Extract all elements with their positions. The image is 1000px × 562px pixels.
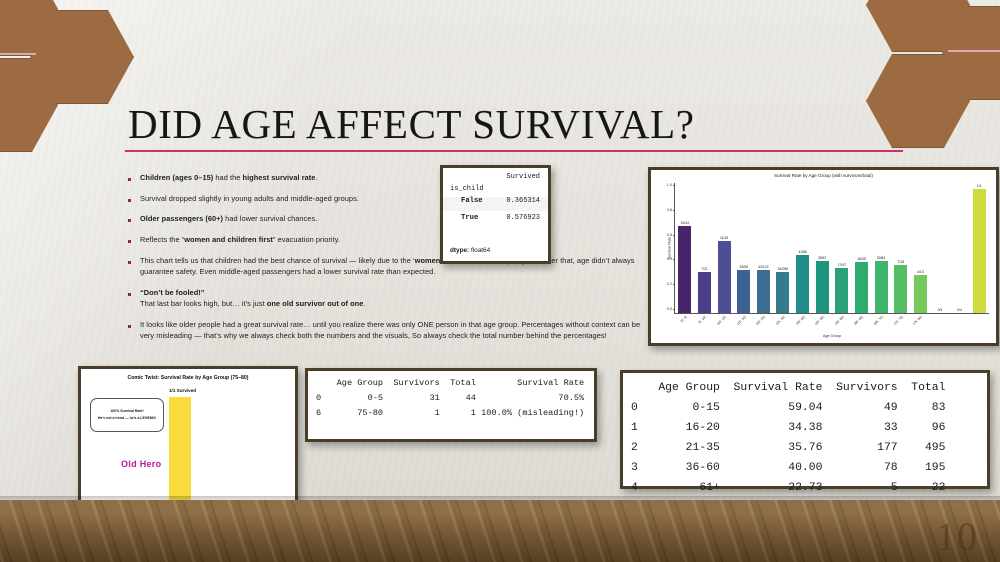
page-number: 10 <box>936 513 978 560</box>
chart-bar-value-label: 31/44 <box>681 221 690 225</box>
table-cell: Survivors <box>822 378 897 398</box>
table-row: 0 0-15 59.04 49 83 <box>631 398 977 418</box>
chart-x-tick: (30, 40] <box>795 315 806 326</box>
chart-bar: 17/47 <box>835 268 848 313</box>
table-cell: 21-35 <box>645 438 720 458</box>
bullet-text: Children (ages 0–15) had the highest sur… <box>140 172 318 183</box>
chart-x-tick: (5, 10] <box>698 315 707 324</box>
table-cell: 100.0% (misleading!) <box>476 406 584 421</box>
table-cell: 96 <box>898 418 946 438</box>
table-cell: 59.04 <box>720 398 823 418</box>
chart-y-tick: 1.0 <box>667 183 672 187</box>
chart-x-tick: (0, 5] <box>679 315 687 323</box>
title-underline <box>125 150 903 152</box>
table-header-row: Age Group Survival Rate Survivors Total <box>631 378 977 398</box>
bullet-marker-icon <box>128 325 131 328</box>
series-dtype-value: float64 <box>471 247 490 254</box>
chart-bar-slot: 16/39(60, 65] <box>852 183 872 313</box>
chart-bar: 16/39 <box>855 262 868 313</box>
chart-y-tick: 0.6 <box>667 233 672 237</box>
hexagon-accent-line-left <box>0 53 36 55</box>
survival-rate-chart-panel: Survival Rate by Age Group (with survivo… <box>648 167 999 346</box>
series-row-value: 0.365314 <box>506 197 540 205</box>
wooden-floor <box>0 500 1000 562</box>
chart-bar-slot: 7/18(70, 75] <box>891 183 911 313</box>
chart-bar-slot: 28/67(40, 50] <box>812 183 832 313</box>
chart-bar: 4/13 <box>914 275 927 313</box>
chart-bar-slot: 11/19(10, 15] <box>714 183 734 313</box>
chart-bar-value-label: 16/39 <box>857 257 866 261</box>
chart-bar: 41/88 <box>796 255 809 313</box>
table-row: 2 21-35 35.76 177 495 <box>631 438 977 458</box>
table-cell: Survival Rate <box>720 378 823 398</box>
small-table: Age Group Survivors Total Survival Rate0… <box>308 371 594 439</box>
chart-bar-slot: 17/47(50, 60] <box>832 183 852 313</box>
table-cell: 78 <box>822 458 897 478</box>
comic-bar <box>169 397 191 507</box>
chart-title: Survival Rate by Age Group (with survivo… <box>651 173 996 178</box>
chart-bar-slot: 0/3 <box>930 183 950 313</box>
chart-bar-slot: 33/96(15, 20] <box>734 183 754 313</box>
table-row: False 0.365314 <box>443 197 548 211</box>
table-cell: 1 <box>440 406 476 421</box>
chart-bar-slot: 4/13(75, 80] <box>911 183 931 313</box>
table-row: 3 36-60 40.00 78 195 <box>631 458 977 478</box>
series-index-name: is_child <box>450 185 484 193</box>
table-cell: 75-80 <box>326 406 383 421</box>
table-cell: 70.5% <box>476 391 584 406</box>
chart-x-axis-label: Age Group <box>675 334 989 338</box>
chart-bar-slot: 41/88(30, 40] <box>793 183 813 313</box>
bullet-marker-icon <box>128 199 131 202</box>
hexagon-accent-line-right <box>948 50 1000 52</box>
bullet-text: Survival dropped slightly in young adult… <box>140 193 359 204</box>
table-cell: Survival Rate <box>476 376 584 391</box>
bullet-list: Children (ages 0–15) had the highest sur… <box>128 172 656 351</box>
chart-bar-value-label: 0/4 <box>957 308 962 312</box>
bullet-text: This chart tells us that children had th… <box>140 255 656 277</box>
chart-x-tick: (50, 60] <box>834 315 845 326</box>
table-cell: 22 <box>898 478 946 498</box>
chart-bar-value-label: 42/122 <box>758 265 768 269</box>
chart-y-tick: 0.0 <box>667 307 672 311</box>
list-item: This chart tells us that children had th… <box>128 255 656 277</box>
series-row-value: 0.576923 <box>506 214 540 222</box>
chart-bar: 42/122 <box>757 270 770 313</box>
chart-bar-slot: 30/84(65, 70] <box>871 183 891 313</box>
bullet-marker-icon <box>128 178 131 181</box>
chart-y-tick: 0.8 <box>667 208 672 212</box>
table-cell: 35.76 <box>720 438 823 458</box>
bullet-text: Reflects the “women and children first” … <box>140 234 340 245</box>
chart-bar-value-label: 17/47 <box>838 263 847 267</box>
table-cell: Survivors <box>383 376 440 391</box>
table-cell: 36-60 <box>645 458 720 478</box>
chart-bar-value-label: 1/1 <box>977 184 982 188</box>
large-table-panel: Age Group Survival Rate Survivors Total0… <box>620 370 990 489</box>
list-item: It looks like older people had a great s… <box>128 319 656 341</box>
chart-x-tick: (25, 30] <box>775 315 786 326</box>
list-item: Older passengers (60+) had lower surviva… <box>128 213 656 224</box>
bullet-text: It looks like older people had a great s… <box>140 319 656 341</box>
table-cell: 0 <box>631 398 645 418</box>
chart-bar-value-label: 0/3 <box>938 308 943 312</box>
bullet-text: “Don’t be fooled!”That last bar looks hi… <box>140 287 366 309</box>
series-row-key: False <box>461 197 483 205</box>
small-table-panel: Age Group Survivors Total Survival Rate0… <box>305 368 597 442</box>
chart-bar-slot: 42/122(20, 25] <box>754 183 774 313</box>
chart-bar-value-label: 7/18 <box>897 260 904 264</box>
chart-x-tick: (60, 65] <box>854 315 865 326</box>
table-cell: 2 <box>631 438 645 458</box>
list-item: Survival dropped slightly in young adult… <box>128 193 656 204</box>
table-cell: 40.00 <box>720 458 823 478</box>
table-cell: 44 <box>440 391 476 406</box>
bullet-marker-icon <box>128 219 131 222</box>
chart-bar-value-label: 41/88 <box>798 250 807 254</box>
speech-bubble-line-1: 100% Survival Rate! <box>110 409 143 414</box>
chart-x-tick: (65, 70] <box>873 315 884 326</box>
bullet-text: Older passengers (60+) had lower surviva… <box>140 213 317 224</box>
table-cell: 1 <box>383 406 440 421</box>
series-output-panel: Survived is_child False 0.365314 True 0.… <box>440 165 551 264</box>
table-cell: 31 <box>383 391 440 406</box>
chart-bar: 7/18 <box>894 265 907 313</box>
table-row: 4 61+ 22.73 5 22 <box>631 478 977 498</box>
speech-bubble: 100% Survival Rate! He's not a trend — h… <box>90 398 164 432</box>
chart-bar-slot: 31/44(0, 5] <box>675 183 695 313</box>
table-cell: 6 <box>316 406 326 421</box>
table-cell: 495 <box>898 438 946 458</box>
chart-x-tick: (10, 15] <box>716 315 727 326</box>
chart-bar-value-label: 7/21 <box>701 267 708 271</box>
chart-bar-value-label: 28/67 <box>818 256 827 260</box>
table-cell: 33 <box>822 418 897 438</box>
chart-bar-slot: 7/21(5, 10] <box>695 183 715 313</box>
table-cell: 16-20 <box>645 418 720 438</box>
chart-bar: 30/84 <box>875 261 888 313</box>
table-row: 1 16-20 34.38 33 96 <box>631 418 977 438</box>
table-cell: 3 <box>631 458 645 478</box>
table-cell: Age Group <box>326 376 383 391</box>
list-item: Reflects the “women and children first” … <box>128 234 656 245</box>
table-cell: 61+ <box>645 478 720 498</box>
chart-bar-slot: 94/285(25, 30] <box>773 183 793 313</box>
chart-bars: 31/44(0, 5]7/21(5, 10]11/19(10, 15]33/96… <box>675 183 989 313</box>
table-row: True 0.576923 <box>443 214 548 228</box>
table-cell: 1 <box>631 418 645 438</box>
bullet-marker-icon <box>128 240 131 243</box>
table-cell: Total <box>898 378 946 398</box>
chart-bar-value-label: 94/285 <box>778 267 788 271</box>
large-table: Age Group Survival Rate Survivors Total0… <box>623 373 987 486</box>
chart-bar-value-label: 30/84 <box>877 256 886 260</box>
chart-bar: 31/44 <box>678 226 691 313</box>
chart-bar: 11/19 <box>718 241 731 313</box>
comic-bar-label: 1/1 Survived <box>169 388 191 393</box>
table-cell <box>631 378 645 398</box>
chart-bar-value-label: 33/96 <box>739 265 748 269</box>
chart-bar: 1/1 <box>973 189 986 313</box>
table-cell: 5 <box>822 478 897 498</box>
table-row: 0 0-5 31 44 70.5% <box>316 391 586 406</box>
table-cell: Age Group <box>645 378 720 398</box>
bullet-marker-icon <box>128 293 131 296</box>
series-column-header: Survived <box>506 173 540 181</box>
comic-annotation: Old Hero <box>121 459 161 469</box>
series-dtype: dtype: float64 <box>450 247 490 254</box>
table-cell: 34.38 <box>720 418 823 438</box>
table-cell: 49 <box>822 398 897 418</box>
chart-bar: 7/21 <box>698 272 711 313</box>
table-cell: 195 <box>898 458 946 478</box>
slide: DID AGE AFFECT SURVIVAL? Children (ages … <box>0 0 1000 562</box>
chart-x-tick: (40, 50] <box>814 315 825 326</box>
chart-bar: 33/96 <box>737 270 750 313</box>
chart-bar: 28/67 <box>816 261 829 313</box>
table-cell: 0-5 <box>326 391 383 406</box>
chart-bar-slot: 0/4 <box>950 183 970 313</box>
table-cell: 177 <box>822 438 897 458</box>
chart-x-tick: (20, 25] <box>755 315 766 326</box>
chart-bar-slot: 1/1 <box>969 183 989 313</box>
chart-bar-value-label: 4/13 <box>917 270 924 274</box>
table-cell: 83 <box>898 398 946 418</box>
table-header-row: Age Group Survivors Total Survival Rate <box>316 376 586 391</box>
table-row: 6 75-80 1 1 100.0% (misleading!) <box>316 406 586 421</box>
bullet-marker-icon <box>128 261 131 264</box>
table-cell: 4 <box>631 478 645 498</box>
series-dtype-label: dtype: <box>450 247 469 254</box>
chart-x-tick: (70, 75] <box>893 315 904 326</box>
table-cell <box>316 376 326 391</box>
chart-x-tick: (15, 20] <box>736 315 747 326</box>
table-cell: 0 <box>316 391 326 406</box>
chart-y-axis-label: Survival Rate <box>667 237 671 260</box>
table-cell: 0-15 <box>645 398 720 418</box>
series-row-key: True <box>461 214 478 222</box>
table-cell: 22.73 <box>720 478 823 498</box>
chart-bar-value-label: 11/19 <box>720 236 728 240</box>
chart-y-tick: 0.2 <box>667 282 672 286</box>
chart-x-tick: (75, 80] <box>912 315 923 326</box>
comic-chart-title: Comic Twist: Survival Rate by Age Group … <box>81 375 295 381</box>
chart-bar: 94/285 <box>776 272 789 313</box>
speech-bubble-line-2: He's not a trend — he's a LEGEND! <box>98 416 156 421</box>
chart-plot-area: Survival Rate 0.00.20.40.60.81.0 31/44(0… <box>674 183 989 314</box>
list-item: Children (ages 0–15) had the highest sur… <box>128 172 656 183</box>
list-item: “Don’t be fooled!”That last bar looks hi… <box>128 287 656 309</box>
chart-y-tick: 0.4 <box>667 257 672 261</box>
table-cell: Total <box>440 376 476 391</box>
page-title: DID AGE AFFECT SURVIVAL? <box>128 100 695 148</box>
